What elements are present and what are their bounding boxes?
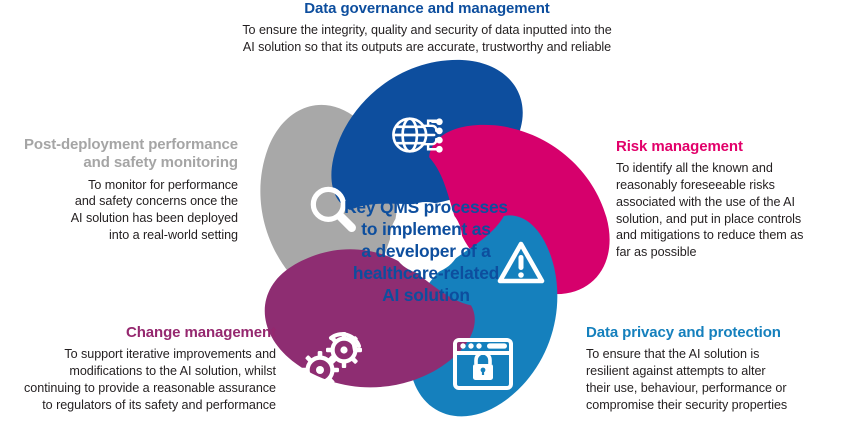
heading-risk-management: Risk management [616, 138, 848, 156]
body-line: To monitor for performance [88, 178, 238, 192]
heading-change-management: Change management [4, 324, 276, 342]
body-line: AI solution has been deployed [71, 211, 238, 225]
body-line: into a real-world setting [109, 228, 238, 242]
label-data-governance: Data governance and management To ensure… [196, 0, 658, 56]
body-line: and mitigations to reduce them as [616, 228, 803, 242]
heading-line: Post-deployment performance [24, 136, 238, 153]
heading-data-privacy: Data privacy and protection [586, 324, 850, 342]
label-risk-management: Risk management To identify all the know… [616, 138, 848, 261]
body-data-privacy: To ensure that the AI solution is resili… [586, 346, 850, 413]
body-line: associated with the use of the AI [616, 195, 795, 209]
label-change-management: Change management To support iterative i… [4, 324, 276, 413]
heading-data-governance: Data governance and management [196, 0, 658, 18]
body-line: To ensure the integrity, quality and sec… [242, 23, 611, 37]
heading-post-deployment-monitoring: Post-deployment performance and safety m… [0, 136, 238, 173]
pinwheel-graphic [236, 48, 616, 428]
infographic-pinwheel-diagram: Key QMS processes to implement as a deve… [0, 0, 850, 422]
body-line: modifications to the AI solution, whilst [69, 364, 276, 378]
label-data-privacy: Data privacy and protection To ensure th… [586, 324, 850, 413]
body-line: To ensure that the AI solution is [586, 347, 759, 361]
body-line: solution, and put in place controls [616, 212, 801, 226]
body-line: reasonably foreseeable risks [616, 178, 775, 192]
body-line: To identify all the known and [616, 161, 773, 175]
body-line: AI solution so that its outputs are accu… [243, 40, 611, 54]
body-line: their use, behaviour, performance or [586, 381, 787, 395]
body-change-management: To support iterative improvements and mo… [4, 346, 276, 413]
body-line: far as possible [616, 245, 696, 259]
body-line: resilient against attempts to alter [586, 364, 766, 378]
label-post-deployment-monitoring: Post-deployment performance and safety m… [0, 136, 238, 244]
body-line: continuing to provide a reasonable assur… [24, 381, 276, 395]
heading-line: and safety monitoring [83, 154, 238, 171]
body-line: and safety concerns once the [75, 194, 238, 208]
body-line: compromise their security properties [586, 398, 787, 412]
body-risk-management: To identify all the known and reasonably… [616, 160, 848, 260]
body-post-deployment-monitoring: To monitor for performance and safety co… [0, 177, 238, 244]
body-line: to regulators of its safety and performa… [42, 398, 276, 412]
center-hub [390, 202, 462, 274]
body-line: To support iterative improvements and [64, 347, 276, 361]
body-data-governance: To ensure the integrity, quality and sec… [196, 22, 658, 55]
